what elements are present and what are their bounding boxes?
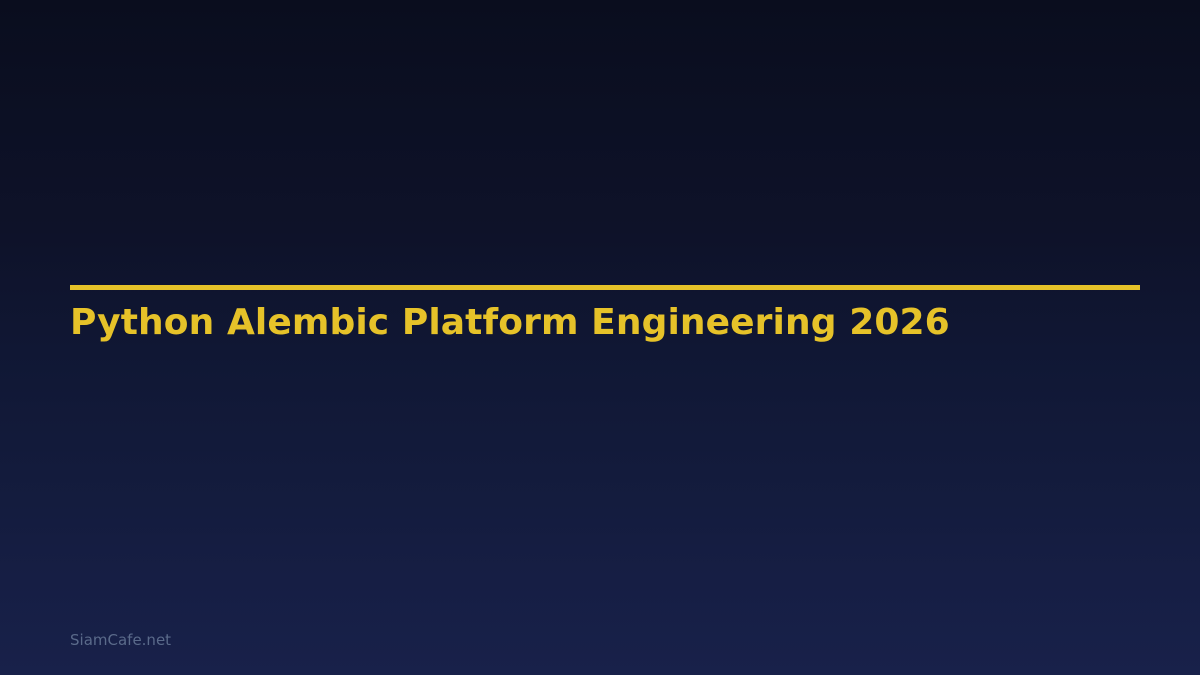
title-slide: Python Alembic Platform Engineering 2026… [0,0,1200,675]
source-attribution-label: SiamCafe.net [70,630,171,650]
page-title: Python Alembic Platform Engineering 2026 [70,303,950,343]
title-accent-rule [70,285,1140,290]
